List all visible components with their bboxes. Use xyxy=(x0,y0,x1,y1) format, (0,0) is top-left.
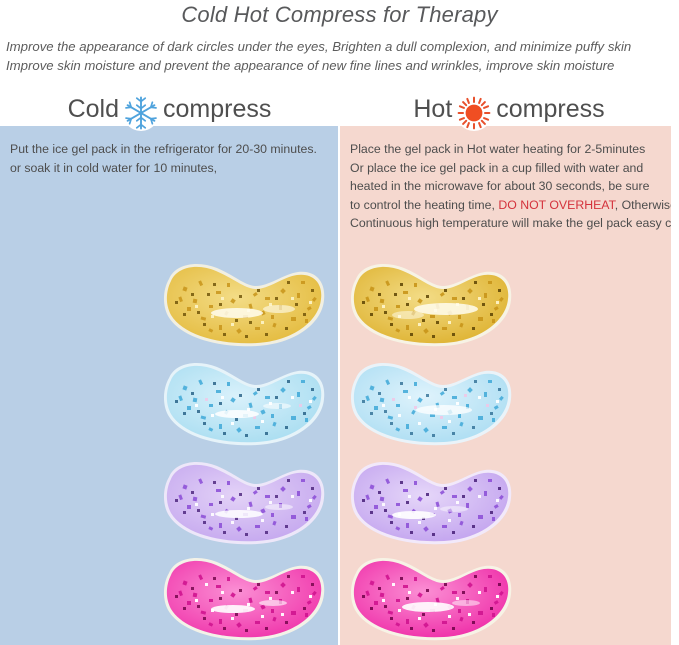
gel-pack-blue[interactable] xyxy=(348,358,515,450)
hot-instruction-line-4-post: , Otherwise, xyxy=(615,198,671,212)
gel-pack-gold[interactable] xyxy=(161,259,328,351)
hot-label-before-icon: Hot xyxy=(413,94,452,124)
hot-instruction-line-1: Place the gel pack in Hot water heating … xyxy=(350,140,665,159)
snowflake-icon xyxy=(121,93,161,133)
gel-pack-purple[interactable] xyxy=(161,457,328,549)
hot-instruction-line-2: Or place the ice gel pack in a cup fille… xyxy=(350,159,665,178)
column-header-cold: Cold xyxy=(0,92,339,126)
cold-gel-pack-group xyxy=(0,126,338,645)
gel-pack-purple[interactable] xyxy=(348,457,515,549)
cold-label-after-icon: compress xyxy=(163,94,271,124)
gel-pack-pink[interactable] xyxy=(348,553,515,645)
title-block: Cold Hot Compress for Therapy Improve th… xyxy=(0,0,679,92)
gel-pack-pink[interactable] xyxy=(161,553,328,645)
hot-instruction-line-3: heated in the microwave for about 30 sec… xyxy=(350,177,665,196)
cold-instruction-line-2: or soak it in cold water for 10 minutes, xyxy=(10,159,332,178)
column-headers: Cold xyxy=(0,92,679,126)
gel-pack-blue[interactable] xyxy=(161,358,328,450)
page-title: Cold Hot Compress for Therapy xyxy=(0,2,679,28)
sun-icon xyxy=(454,93,494,133)
subtitle-block: Improve the appearance of dark circles u… xyxy=(0,37,679,75)
hot-instruction-line-4-pre: to control the heating time, xyxy=(350,198,498,212)
hot-compress-panel: Place the gel pack in Hot water heating … xyxy=(340,126,671,645)
hot-instruction-line-5: Continuous high temperature will make th… xyxy=(350,214,665,233)
gel-pack-gold[interactable] xyxy=(348,259,515,351)
cold-compress-panel: Put the ice gel pack in the refrigerator… xyxy=(0,126,338,645)
hot-instructions: Place the gel pack in Hot water heating … xyxy=(340,126,671,233)
column-header-hot: Hot xyxy=(339,92,679,126)
hot-label-after-icon: compress xyxy=(496,94,604,124)
cold-instructions: Put the ice gel pack in the refrigerator… xyxy=(0,126,338,177)
hot-instruction-line-4: to control the heating time, DO NOT OVER… xyxy=(350,196,665,215)
subtitle-line-1: Improve the appearance of dark circles u… xyxy=(6,37,673,56)
panels-container: Put the ice gel pack in the refrigerator… xyxy=(0,126,671,645)
cold-label-before-icon: Cold xyxy=(68,94,119,124)
subtitle-line-2: Improve skin moisture and prevent the ap… xyxy=(6,56,673,75)
overheat-warning: DO NOT OVERHEAT xyxy=(498,198,614,212)
cold-instruction-line-1: Put the ice gel pack in the refrigerator… xyxy=(10,140,332,159)
